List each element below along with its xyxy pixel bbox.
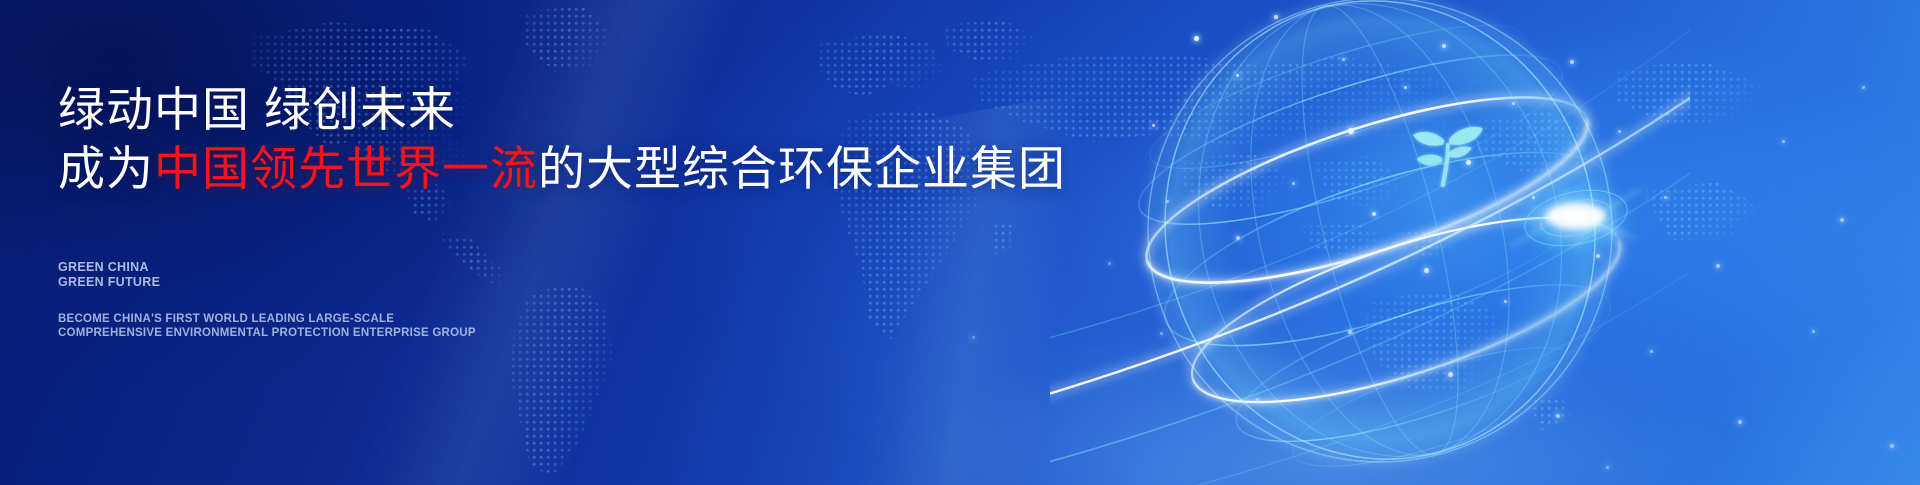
subtitle-line-1: BECOME CHINA'S FIRST WORLD LEADING LARGE… [58,313,476,327]
headline-suffix: 的大型综合环保企业集团 [538,142,1066,195]
banner-copy: 绿动中国 绿创未来 成为中国领先世界一流的大型综合环保企业集团 GREEN CH… [58,0,1058,485]
headline-line-2: 成为中国领先世界一流的大型综合环保企业集团 [58,141,1066,197]
headline-prefix: 成为 [58,142,154,195]
headline-highlight: 中国领先世界一流 [154,142,538,195]
subtitle-english: BECOME CHINA'S FIRST WORLD LEADING LARGE… [58,313,476,340]
headline-line-1-text: 绿动中国 绿创未来 [58,83,456,136]
eyebrow-line-2: GREEN FUTURE [58,275,160,290]
eyebrow-slogan: GREEN CHINA GREEN FUTURE [58,260,160,289]
eyebrow-line-1: GREEN CHINA [58,260,160,275]
star-flare-icon [1490,150,1660,280]
hero-banner: 绿动中国 绿创未来 成为中国领先世界一流的大型综合环保企业集团 GREEN CH… [0,0,1920,485]
headline-line-1: 绿动中国 绿创未来 [58,82,456,138]
wireframe-globe-icon [1050,0,1690,485]
subtitle-line-2: COMPREHENSIVE ENVIRONMENTAL PROTECTION E… [58,327,476,341]
sprout-leaf-icon [1400,112,1492,204]
